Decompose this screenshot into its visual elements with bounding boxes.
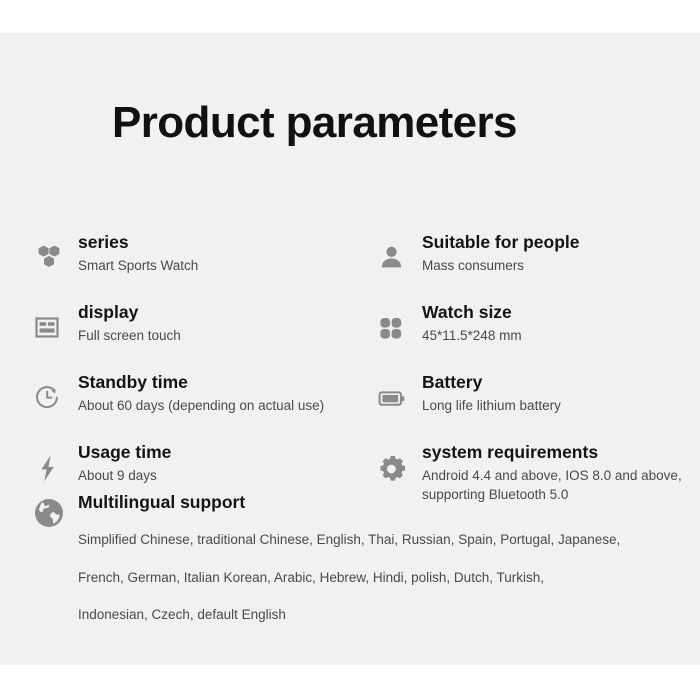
multilingual-line: French, German, Italian Korean, Arabic, … <box>78 566 662 590</box>
spec-value: 45*11.5*248 mm <box>422 326 686 345</box>
spec-item-display: display Full screen touch <box>32 302 382 350</box>
spec-value: About 9 days <box>78 466 382 485</box>
spec-heading: system requirements <box>422 442 686 462</box>
spec-item-usage-time: Usage time About 9 days <box>32 442 382 490</box>
spec-item-watch-size: Watch size 45*11.5*248 mm <box>376 302 686 350</box>
hexagon-cluster-icon <box>32 242 66 276</box>
lightning-bolt-icon <box>32 452 66 486</box>
spec-heading: Standby time <box>78 372 382 392</box>
spec-item-standby-time: Standby time About 60 days (depending on… <box>32 372 382 420</box>
battery-icon <box>376 382 410 416</box>
multilingual-line: Simplified Chinese, traditional Chinese,… <box>78 528 662 552</box>
spec-value: Mass consumers <box>422 256 686 275</box>
spec-heading: Usage time <box>78 442 382 462</box>
spec-value: Smart Sports Watch <box>78 256 382 275</box>
page-title: Product parameters <box>112 98 517 148</box>
spec-value: Full screen touch <box>78 326 382 345</box>
spec-heading: Battery <box>422 372 686 392</box>
spec-item-series: series Smart Sports Watch <box>32 232 382 280</box>
spec-column-left: series Smart Sports Watch display Full s… <box>32 232 382 490</box>
person-icon <box>376 242 410 276</box>
globe-icon <box>32 496 66 530</box>
clock-rotate-icon <box>32 382 66 416</box>
gear-icon <box>376 452 410 486</box>
spec-item-battery: Battery Long life lithium battery <box>376 372 686 420</box>
spec-heading: Watch size <box>422 302 686 322</box>
spec-value: About 60 days (depending on actual use) <box>78 396 382 415</box>
multilingual-support-section: Multilingual support Simplified Chinese,… <box>32 492 662 641</box>
display-panel-icon <box>32 312 66 346</box>
product-parameters-infographic: Product parameters series Smart Sports W… <box>0 0 700 700</box>
spec-heading: series <box>78 232 382 252</box>
spec-value: Long life lithium battery <box>422 396 686 415</box>
spec-item-suitable-for-people: Suitable for people Mass consumers <box>376 232 686 280</box>
multilingual-line: Indonesian, Czech, default English <box>78 603 662 627</box>
spec-heading: display <box>78 302 382 322</box>
four-petal-icon <box>376 312 410 346</box>
spec-column-right: Suitable for people Mass consumers Watch… <box>376 232 686 504</box>
spec-heading: Suitable for people <box>422 232 686 252</box>
multilingual-heading: Multilingual support <box>78 492 662 512</box>
